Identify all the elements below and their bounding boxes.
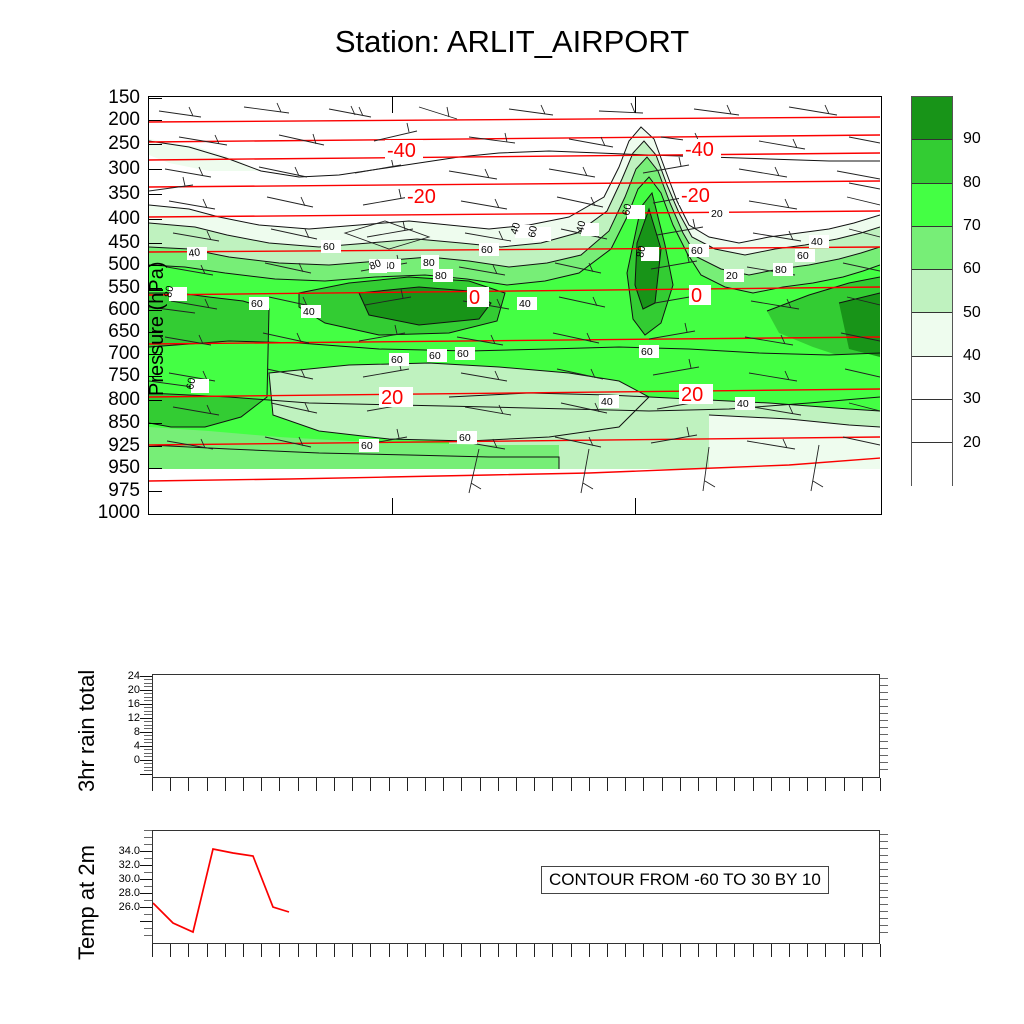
temp-yaxis-label: Temp at 2m xyxy=(74,920,100,960)
svg-text:40: 40 xyxy=(811,236,823,248)
xtick-mark xyxy=(225,778,226,791)
xtick-mark xyxy=(534,778,535,791)
svg-text:0: 0 xyxy=(469,287,480,309)
svg-text:60: 60 xyxy=(457,348,469,360)
xtick-mark xyxy=(534,944,535,957)
xtick-mark xyxy=(625,778,626,791)
rain-right-ytick-group xyxy=(880,674,888,778)
xtick-mark xyxy=(607,944,608,957)
xtick-mark xyxy=(862,778,863,791)
svg-text:20: 20 xyxy=(726,270,738,282)
ytick-label: 200 xyxy=(62,109,140,131)
colorbar-cell xyxy=(912,357,952,400)
xtick-mark xyxy=(625,944,626,957)
xtick-mark xyxy=(552,944,553,957)
ytick-label: 975 xyxy=(62,480,140,502)
xtick-mark xyxy=(298,944,299,957)
colorbar-cell xyxy=(912,140,952,183)
ytick-label: 500 xyxy=(62,254,140,276)
xtick-mark xyxy=(516,778,517,791)
ytick-label: 1000 xyxy=(62,502,140,524)
ytick-label: 750 xyxy=(62,365,140,387)
xtick-mark xyxy=(225,944,226,957)
rain-ytick-label: 0 xyxy=(104,754,140,766)
svg-text:80: 80 xyxy=(423,257,435,269)
xtick-mark xyxy=(662,944,663,957)
colorbar xyxy=(911,96,953,486)
rain-ytick-label: 16 xyxy=(104,698,140,710)
ytick-label: 400 xyxy=(62,208,140,230)
xtick-mark xyxy=(698,944,699,957)
temp-ytick-label: 34.0 xyxy=(96,845,140,857)
xtick-mark xyxy=(480,944,481,957)
ytick-label: 650 xyxy=(62,321,140,343)
svg-text:-20: -20 xyxy=(681,185,710,207)
xtick-mark xyxy=(680,778,681,791)
contour-svg: 40 40 40 40 20 20 40 40 40 60 60 60 60 6… xyxy=(149,97,880,513)
xtick-mark xyxy=(789,778,790,791)
main-plot-frame: 40 40 40 40 20 20 40 40 40 60 60 60 60 6… xyxy=(148,96,882,515)
xtick-mark xyxy=(352,944,353,957)
temp-ytick-label: 26.0 xyxy=(96,901,140,913)
xtick-mark xyxy=(589,778,590,791)
xtick-mark xyxy=(407,778,408,791)
page-title: Station: ARLIT_AIRPORT xyxy=(0,24,1024,60)
xtick-mark xyxy=(607,778,608,791)
colorbar-cell xyxy=(912,184,952,227)
colorbar-label: 40 xyxy=(963,347,981,365)
xtick-mark xyxy=(825,944,826,957)
colorbar-label: 20 xyxy=(963,434,981,452)
ytick-label: 300 xyxy=(62,158,140,180)
ytick-label: 800 xyxy=(62,389,140,411)
svg-text:-40: -40 xyxy=(387,140,416,162)
svg-text:20: 20 xyxy=(381,387,403,409)
xtick-mark xyxy=(789,944,790,957)
xtick-mark xyxy=(170,778,171,791)
colorbar-cell xyxy=(912,443,952,486)
svg-text:0: 0 xyxy=(691,285,702,307)
xtick-mark xyxy=(807,778,808,791)
ytick-label: 350 xyxy=(62,183,140,205)
temp-ytick-label: 32.0 xyxy=(96,859,140,871)
colorbar-label: 50 xyxy=(963,304,981,322)
xtick-mark xyxy=(643,778,644,791)
contour-range-note: CONTOUR FROM -60 TO 30 BY 10 xyxy=(541,866,829,894)
xtick-mark xyxy=(443,778,444,791)
xtick-mark xyxy=(243,778,244,791)
svg-text:60: 60 xyxy=(526,225,540,239)
rain-xtick-group xyxy=(152,778,880,792)
ytick-label: 250 xyxy=(62,133,140,155)
svg-text:20: 20 xyxy=(711,208,723,220)
main-xtick-1b xyxy=(392,498,393,514)
xtick-mark xyxy=(334,778,335,791)
colorbar-cell xyxy=(912,400,952,443)
rain-ytick-label: 12 xyxy=(104,712,140,724)
xtick-mark xyxy=(771,944,772,957)
svg-text:80: 80 xyxy=(435,270,447,282)
xtick-mark xyxy=(243,944,244,957)
ytick-label: 450 xyxy=(62,232,140,254)
xtick-mark xyxy=(152,944,153,957)
xtick-mark xyxy=(753,944,754,957)
temp-right-ytick-group xyxy=(880,830,888,944)
xtick-mark xyxy=(844,778,845,791)
xtick-mark xyxy=(716,778,717,791)
xtick-mark xyxy=(516,944,517,957)
colorbar-cell xyxy=(912,97,952,140)
ytick-label: 950 xyxy=(62,457,140,479)
xtick-mark xyxy=(188,778,189,791)
svg-text:40: 40 xyxy=(737,398,749,410)
svg-text:60: 60 xyxy=(481,244,493,256)
svg-text:60: 60 xyxy=(361,440,373,452)
xtick-mark xyxy=(771,778,772,791)
xtick-mark xyxy=(425,778,426,791)
svg-text:40: 40 xyxy=(303,306,315,318)
ytick-label: 925 xyxy=(62,435,140,457)
svg-text:40: 40 xyxy=(519,298,531,310)
colorbar-label: 30 xyxy=(963,390,981,408)
xtick-mark xyxy=(825,778,826,791)
xtick-mark xyxy=(589,944,590,957)
temp-ytick-label: 30.0 xyxy=(96,873,140,885)
xtick-mark xyxy=(498,944,499,957)
svg-text:60: 60 xyxy=(429,350,441,362)
xtick-mark xyxy=(443,944,444,957)
ytick-label: 600 xyxy=(62,299,140,321)
colorbar-label: 60 xyxy=(963,260,981,278)
svg-text:60: 60 xyxy=(641,346,653,358)
xtick-mark xyxy=(571,778,572,791)
xtick-mark xyxy=(370,778,371,791)
svg-text:60: 60 xyxy=(459,432,471,444)
xtick-mark xyxy=(571,944,572,957)
xtick-mark xyxy=(389,778,390,791)
xtick-mark xyxy=(334,944,335,957)
svg-text:-40: -40 xyxy=(685,139,714,161)
svg-text:60: 60 xyxy=(323,241,335,253)
svg-text:60: 60 xyxy=(797,250,809,262)
colorbar-label: 80 xyxy=(963,174,981,192)
xtick-mark xyxy=(844,944,845,957)
svg-text:60: 60 xyxy=(691,245,703,257)
xtick-mark xyxy=(298,778,299,791)
xtick-mark xyxy=(279,944,280,957)
xtick-mark xyxy=(152,778,153,791)
ytick-label: 700 xyxy=(62,343,140,365)
main-yaxis-label: Pressure (hPa) xyxy=(146,356,169,396)
rain-ytick-label: 4 xyxy=(104,740,140,752)
ytick-label: 550 xyxy=(62,277,140,299)
rain-ytick-label: 8 xyxy=(104,726,140,738)
rain-total-panel xyxy=(152,674,880,778)
xtick-mark xyxy=(680,944,681,957)
xtick-mark xyxy=(261,778,262,791)
xtick-mark xyxy=(279,778,280,791)
svg-text:60: 60 xyxy=(391,354,403,366)
xtick-mark xyxy=(753,778,754,791)
xtick-mark xyxy=(716,944,717,957)
xtick-mark xyxy=(425,944,426,957)
xtick-mark xyxy=(862,944,863,957)
humidity-cross-section-panel: 40 40 40 40 20 20 40 40 40 60 60 60 60 6… xyxy=(148,96,882,515)
xtick-mark xyxy=(352,778,353,791)
colorbar-label: 90 xyxy=(963,130,981,148)
xtick-mark xyxy=(389,944,390,957)
svg-text:20: 20 xyxy=(681,384,703,406)
xtick-mark xyxy=(207,778,208,791)
rain-plot-frame xyxy=(152,674,880,778)
xtick-mark xyxy=(498,778,499,791)
xtick-mark xyxy=(480,778,481,791)
main-xtick-2 xyxy=(635,97,636,113)
xtick-mark xyxy=(734,944,735,957)
colorbar-cell xyxy=(912,313,952,356)
ytick-label: 850 xyxy=(62,412,140,434)
xtick-mark xyxy=(734,778,735,791)
xtick-mark xyxy=(188,944,189,957)
xtick-mark xyxy=(880,778,881,791)
xtick-mark xyxy=(461,944,462,957)
main-xtick-1 xyxy=(392,97,393,113)
xtick-mark xyxy=(261,944,262,957)
xtick-mark xyxy=(880,944,881,957)
colorbar-label: 70 xyxy=(963,217,981,235)
xtick-mark xyxy=(316,944,317,957)
xtick-mark xyxy=(407,944,408,957)
xtick-mark xyxy=(643,944,644,957)
xtick-mark xyxy=(170,944,171,957)
xtick-mark xyxy=(461,778,462,791)
xtick-mark xyxy=(552,778,553,791)
xtick-mark xyxy=(370,944,371,957)
svg-text:40: 40 xyxy=(188,246,201,260)
svg-text:-20: -20 xyxy=(407,186,436,208)
rain-ytick-label: 20 xyxy=(104,684,140,696)
main-xtick-2b xyxy=(635,498,636,514)
svg-text:40: 40 xyxy=(601,396,613,408)
colorbar-cell xyxy=(912,270,952,313)
temp-ytick-label: 28.0 xyxy=(96,887,140,899)
rain-yaxis-label: 3hr rain total xyxy=(74,752,100,792)
ytick-label: 150 xyxy=(62,87,140,109)
temp-series-line xyxy=(153,849,289,932)
figure-root: Station: ARLIT_AIRPORT xyxy=(0,0,1024,1024)
xtick-mark xyxy=(807,944,808,957)
xtick-mark xyxy=(316,778,317,791)
xtick-mark xyxy=(698,778,699,791)
svg-text:80: 80 xyxy=(775,264,787,276)
rain-ytick-label: 24 xyxy=(104,670,140,682)
colorbar-cell xyxy=(912,227,952,270)
xtick-mark xyxy=(207,944,208,957)
temp-xtick-group xyxy=(152,944,880,958)
xtick-mark xyxy=(662,778,663,791)
svg-text:60: 60 xyxy=(251,298,263,310)
